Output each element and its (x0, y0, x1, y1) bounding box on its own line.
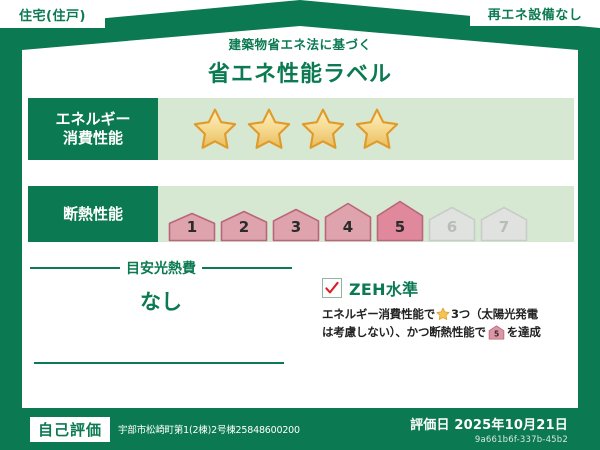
star-icon (192, 106, 238, 152)
evaluation-date-label: 評価日 (410, 418, 450, 433)
heading-rule-left (30, 267, 120, 269)
utility-cost-bottom-rule (34, 362, 284, 364)
energy-performance-row: エネルギー 消費性能 (28, 98, 574, 160)
renewable-equipment-tag: 再エネ設備なし (470, 0, 600, 26)
insulation-level-4: 4 (324, 202, 372, 242)
zeh-desc-line2-b: を達成 (507, 325, 541, 339)
insulation-scale: 1234567 (158, 186, 528, 242)
insulation-level-3: 3 (272, 208, 320, 242)
zeh-desc-line1-a: エネルギー消費性能で (322, 307, 435, 321)
zeh-desc-line2-a: は考慮しない）、かつ断熱性能で (322, 325, 486, 339)
insulation-performance-label-key: 断熱性能 (28, 186, 158, 242)
star-icon (246, 106, 292, 152)
energy-performance-label: 住宅(住戸) 再エネ設備なし 建築物省エネ法に基づく 省エネ性能ラベル エネルギ… (0, 0, 600, 450)
insulation-level-7: 7 (480, 206, 528, 242)
insulation-level-2: 2 (220, 210, 268, 242)
label-footer: 自己評価 宇部市松崎町第1(2棟)2号棟25848600200 評価日 2025… (22, 408, 578, 450)
footer-right-block: 評価日 2025年10月21日 9a661b6f-337b-45b2 (410, 414, 568, 445)
zeh-block: ZEH水準 エネルギー消費性能で3つ（太陽光発電 は考慮しない）、かつ断熱性能で… (322, 276, 574, 342)
check-icon (324, 280, 340, 296)
house-badge-icon: 5 (488, 325, 505, 340)
heading-rule-right (202, 267, 292, 269)
evaluation-date: 評価日 2025年10月21日 (410, 414, 568, 433)
insulation-key-text: 断熱性能 (63, 205, 123, 224)
zeh-heading: ZEH水準 (322, 276, 574, 300)
utility-cost-heading-text: 目安光熱費 (126, 258, 196, 278)
document-id: 9a661b6f-337b-45b2 (410, 435, 568, 445)
label-title-block: 建築物省エネ法に基づく 省エネ性能ラベル (0, 34, 600, 88)
energy-performance-label-key: エネルギー 消費性能 (28, 98, 158, 160)
house-badge-number: 5 (494, 329, 499, 338)
title-subtitle: 建築物省エネ法に基づく (0, 34, 600, 53)
utility-cost-value: なし (30, 286, 292, 316)
housing-type-tag: 住宅(住戸) (0, 0, 105, 28)
insulation-level-5: 5 (376, 200, 424, 242)
energy-key-line2: 消費性能 (63, 129, 123, 148)
energy-key-line1: エネルギー (55, 110, 130, 129)
insulation-level-1: 1 (168, 212, 216, 242)
zeh-desc-line1-b: 3つ（太陽光発電 (451, 307, 538, 321)
star-icon (300, 106, 346, 152)
zeh-checkbox[interactable] (322, 278, 342, 298)
property-address: 宇部市松崎町第1(2棟)2号棟25848600200 (118, 422, 300, 436)
page-title: 省エネ性能ラベル (0, 56, 600, 88)
zeh-description: エネルギー消費性能で3つ（太陽光発電 は考慮しない）、かつ断熱性能で5を達成 (322, 306, 574, 342)
evaluation-date-value: 2025年10月21日 (454, 418, 568, 433)
insulation-performance-value: 1234567 (158, 186, 574, 242)
star-icon-inline (436, 307, 450, 321)
utility-cost-heading: 目安光熱費 (30, 258, 292, 278)
star-rating (158, 106, 400, 152)
zeh-title: ZEH水準 (349, 276, 418, 300)
energy-performance-value (158, 98, 574, 160)
self-evaluation-badge: 自己評価 (30, 417, 110, 442)
insulation-level-6: 6 (428, 206, 476, 242)
star-icon (354, 106, 400, 152)
insulation-performance-row: 断熱性能 1234567 (28, 186, 574, 242)
